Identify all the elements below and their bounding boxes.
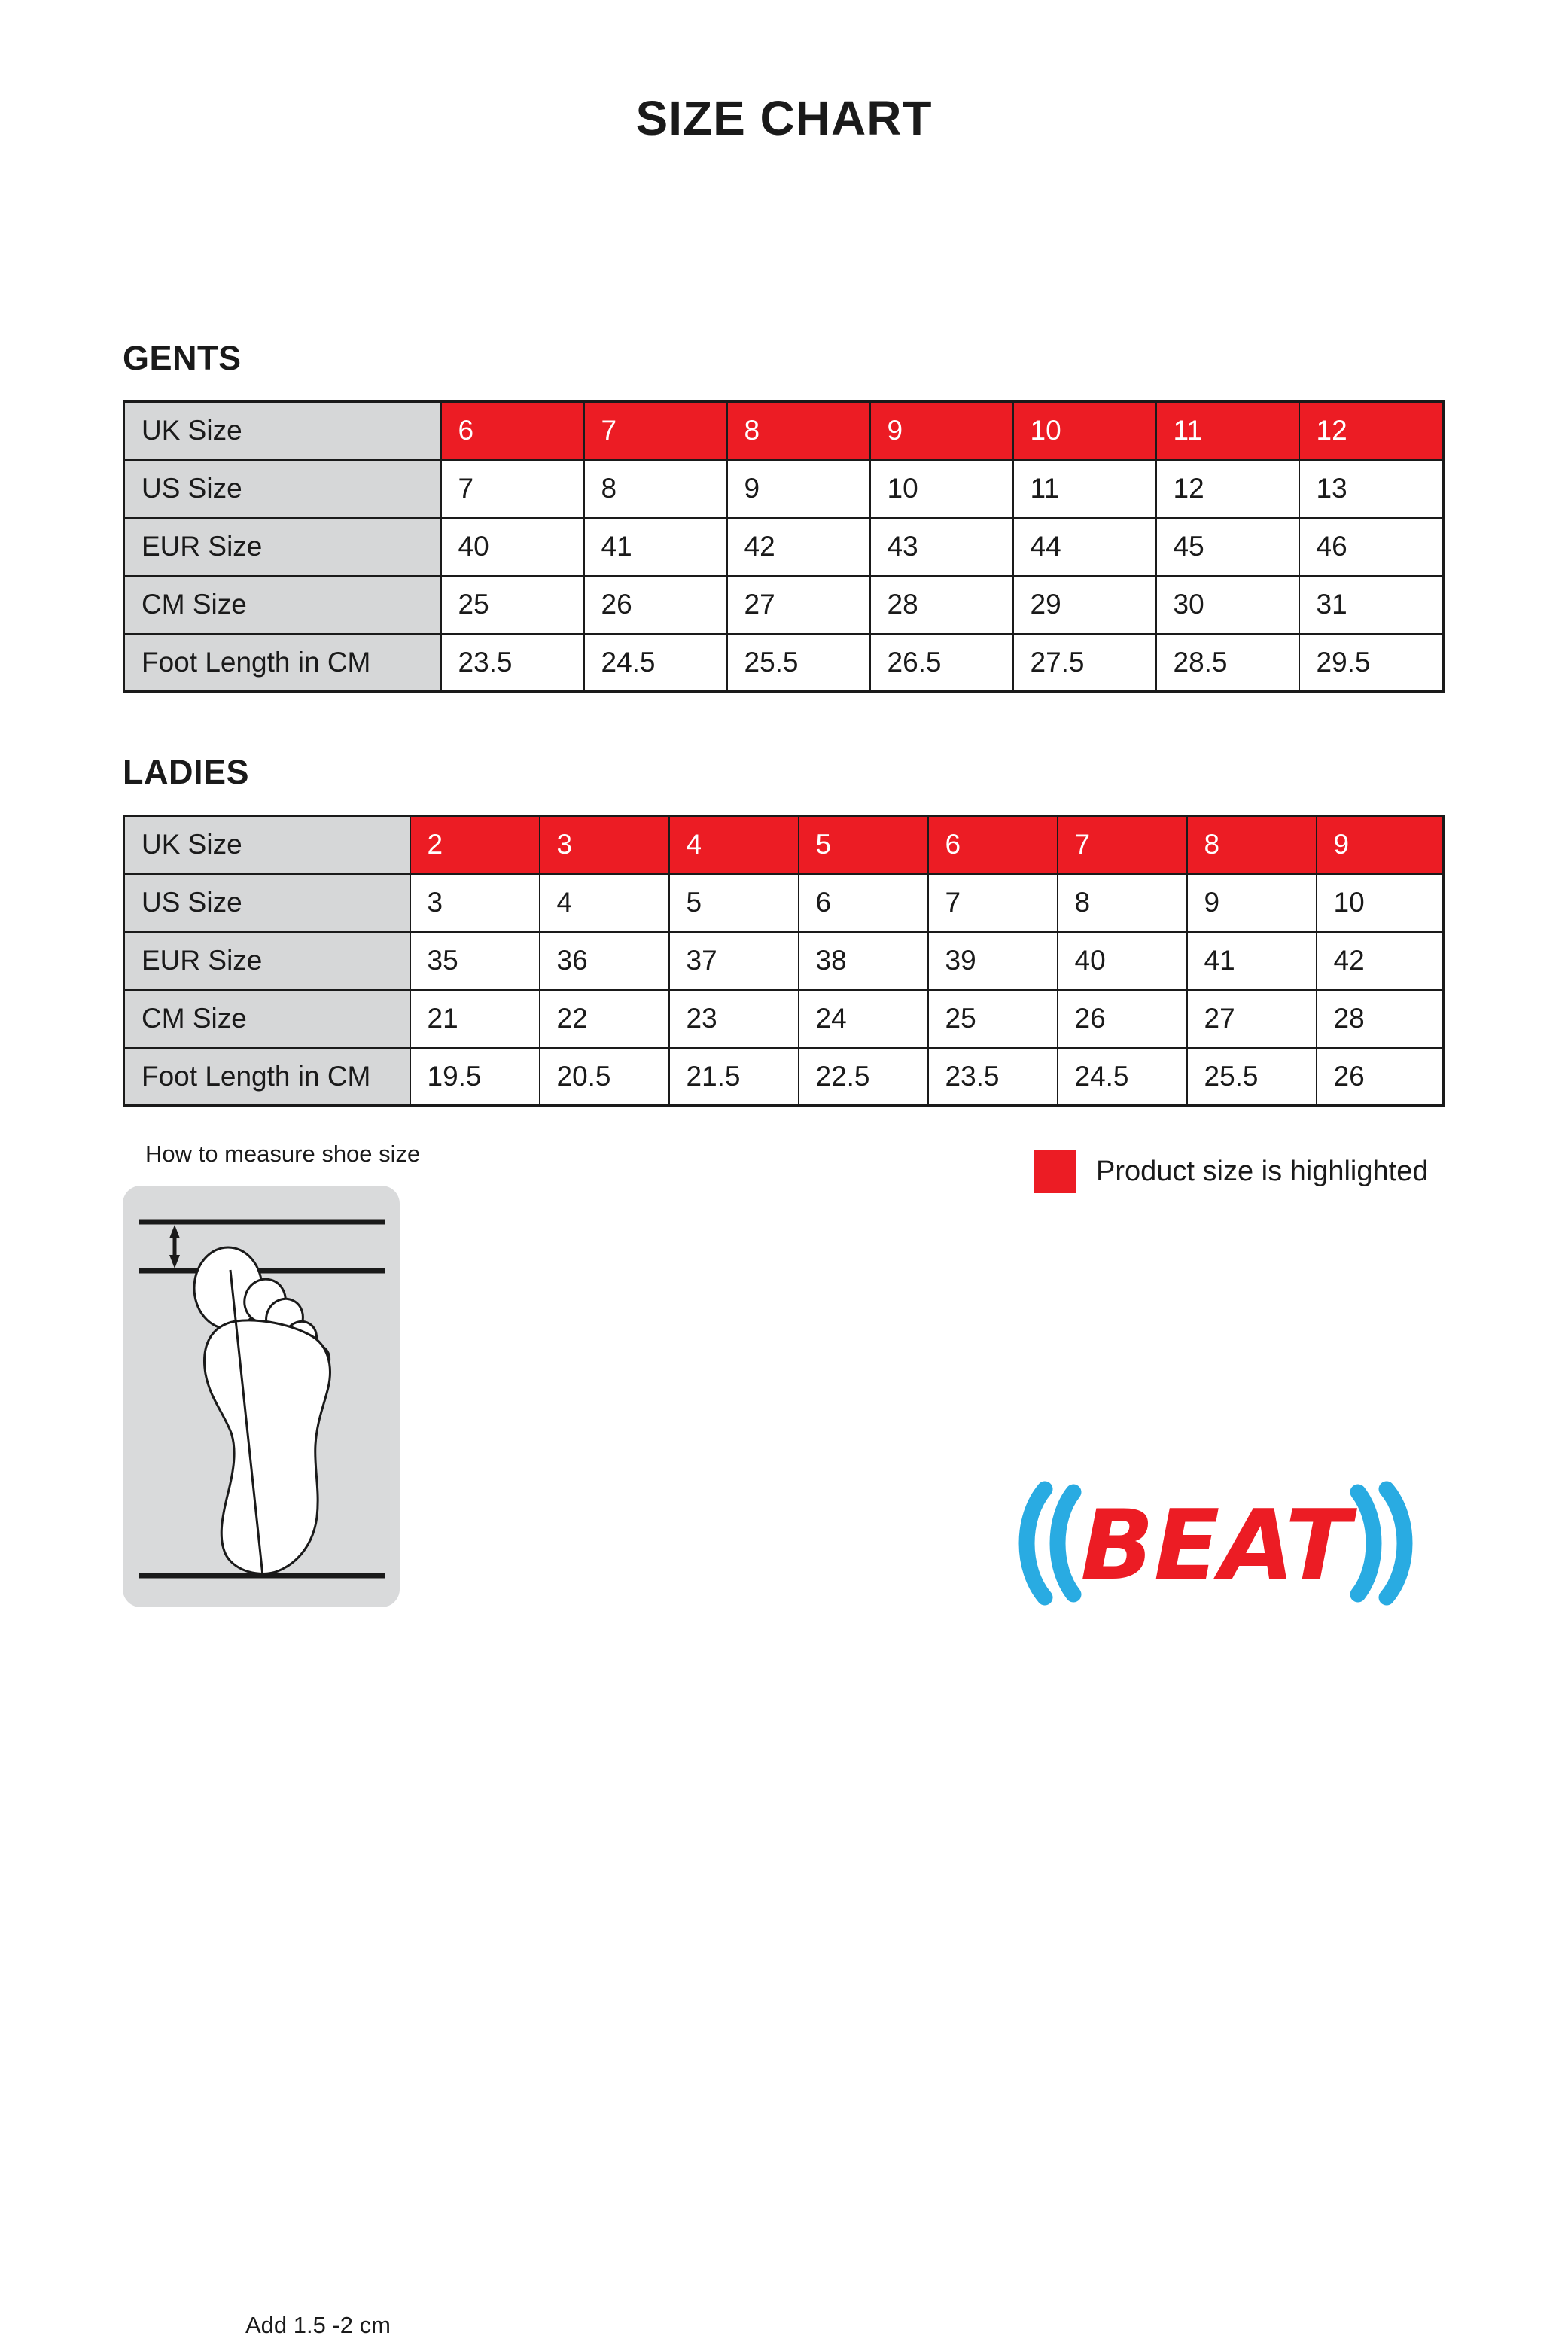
table-cell: 22.5 [799,1048,928,1106]
table-cell: 36 [540,932,669,990]
row-label: UK Size [124,402,441,460]
row-label: US Size [124,874,410,932]
measure-note: Add 1.5 -2 cm [245,2312,391,2339]
table-cell: 40 [441,518,584,576]
table-cell: 41 [584,518,727,576]
brand-wordmark: BEAT [1080,1490,1357,1602]
section-title-gents: GENTS [123,339,1442,378]
table-cell: 28 [870,576,1013,634]
table-cell: 12 [1299,402,1444,460]
table-row: CM Size 25 26 27 28 29 30 31 [124,576,1444,634]
table-cell: 41 [1187,932,1317,990]
table-row: Foot Length in CM 23.5 24.5 25.5 26.5 27… [124,634,1444,692]
table-cell: 9 [727,460,870,518]
table-cell: 12 [1156,460,1299,518]
table-cell: 9 [1187,874,1317,932]
foot-diagram-icon [123,1186,400,1607]
table-row: EUR Size 35 36 37 38 39 40 41 42 [124,932,1444,990]
table-cell: 28.5 [1156,634,1299,692]
table-cell: 35 [410,932,540,990]
table-cell: 7 [928,874,1058,932]
measure-caption: How to measure shoe size [145,1141,420,1168]
table-cell: 23.5 [928,1048,1058,1106]
table-cell: 23 [669,990,799,1048]
table-cell: 37 [669,932,799,990]
table-cell: 20.5 [540,1048,669,1106]
table-cell: 2 [410,816,540,874]
table-cell: 28 [1317,990,1444,1048]
row-label: Foot Length in CM [124,634,441,692]
table-cell: 4 [540,874,669,932]
table-cell: 24 [799,990,928,1048]
gents-table-body: UK Size 6 7 8 9 10 11 12 US Size 7 8 9 1… [124,402,1444,692]
table-cell: 46 [1299,518,1444,576]
table-cell: 27.5 [1013,634,1156,692]
page-title: SIZE CHART [0,90,1568,146]
table-cell: 7 [441,460,584,518]
row-label: CM Size [124,576,441,634]
table-cell: 26.5 [870,634,1013,692]
gents-size-table: UK Size 6 7 8 9 10 11 12 US Size 7 8 9 1… [123,400,1445,693]
table-cell: 5 [669,874,799,932]
table-cell: 21.5 [669,1048,799,1106]
legend-color-swatch [1034,1150,1076,1193]
table-cell: 4 [669,816,799,874]
table-cell: 30 [1156,576,1299,634]
table-cell: 10 [870,460,1013,518]
table-cell: 26 [1317,1048,1444,1106]
table-row: US Size 7 8 9 10 11 12 13 [124,460,1444,518]
row-label: Foot Length in CM [124,1048,410,1106]
table-cell: 10 [1013,402,1156,460]
table-cell: 25.5 [727,634,870,692]
ladies-section: LADIES UK Size 2 3 4 5 6 7 8 9 US Size 3… [123,753,1442,1107]
table-cell: 6 [928,816,1058,874]
table-cell: 29 [1013,576,1156,634]
table-cell: 8 [584,460,727,518]
table-cell: 11 [1156,402,1299,460]
table-cell: 25 [928,990,1058,1048]
row-label: EUR Size [124,518,441,576]
table-cell: 6 [799,874,928,932]
table-cell: 7 [1058,816,1187,874]
table-cell: 26 [584,576,727,634]
foot-measure-panel: Add 1.5 -2 cm [123,1186,400,1607]
table-cell: 40 [1058,932,1187,990]
table-cell: 23.5 [441,634,584,692]
table-cell: 24.5 [584,634,727,692]
table-cell: 10 [1317,874,1444,932]
brand-logo: BEAT [1001,1476,1430,1611]
table-cell: 6 [441,402,584,460]
beat-logo-icon: BEAT [1001,1476,1430,1611]
row-label: CM Size [124,990,410,1048]
table-cell: 44 [1013,518,1156,576]
ladies-size-table: UK Size 2 3 4 5 6 7 8 9 US Size 3 4 5 6 … [123,815,1445,1107]
table-cell: 25.5 [1187,1048,1317,1106]
row-label: UK Size [124,816,410,874]
table-cell: 3 [540,816,669,874]
table-row: EUR Size 40 41 42 43 44 45 46 [124,518,1444,576]
table-cell: 9 [1317,816,1444,874]
table-cell: 8 [727,402,870,460]
table-cell: 43 [870,518,1013,576]
table-row: UK Size 2 3 4 5 6 7 8 9 [124,816,1444,874]
table-cell: 31 [1299,576,1444,634]
legend-label: Product size is highlighted [1096,1156,1428,1188]
table-cell: 21 [410,990,540,1048]
table-cell: 9 [870,402,1013,460]
ladies-table-body: UK Size 2 3 4 5 6 7 8 9 US Size 3 4 5 6 … [124,816,1444,1106]
table-cell: 11 [1013,460,1156,518]
table-cell: 27 [1187,990,1317,1048]
legend: Product size is highlighted [1034,1150,1428,1193]
table-row: UK Size 6 7 8 9 10 11 12 [124,402,1444,460]
table-cell: 19.5 [410,1048,540,1106]
table-cell: 7 [584,402,727,460]
table-cell: 5 [799,816,928,874]
table-cell: 38 [799,932,928,990]
table-cell: 27 [727,576,870,634]
table-row: US Size 3 4 5 6 7 8 9 10 [124,874,1444,932]
table-cell: 42 [1317,932,1444,990]
table-cell: 3 [410,874,540,932]
table-cell: 8 [1187,816,1317,874]
table-row: Foot Length in CM 19.5 20.5 21.5 22.5 23… [124,1048,1444,1106]
row-label: EUR Size [124,932,410,990]
gents-section: GENTS UK Size 6 7 8 9 10 11 12 US Size 7… [123,339,1442,693]
table-cell: 25 [441,576,584,634]
table-cell: 29.5 [1299,634,1444,692]
table-cell: 42 [727,518,870,576]
table-cell: 26 [1058,990,1187,1048]
section-title-ladies: LADIES [123,753,1442,792]
table-cell: 13 [1299,460,1444,518]
row-label: US Size [124,460,441,518]
table-row: CM Size 21 22 23 24 25 26 27 28 [124,990,1444,1048]
table-cell: 39 [928,932,1058,990]
table-cell: 45 [1156,518,1299,576]
table-cell: 24.5 [1058,1048,1187,1106]
table-cell: 22 [540,990,669,1048]
table-cell: 8 [1058,874,1187,932]
